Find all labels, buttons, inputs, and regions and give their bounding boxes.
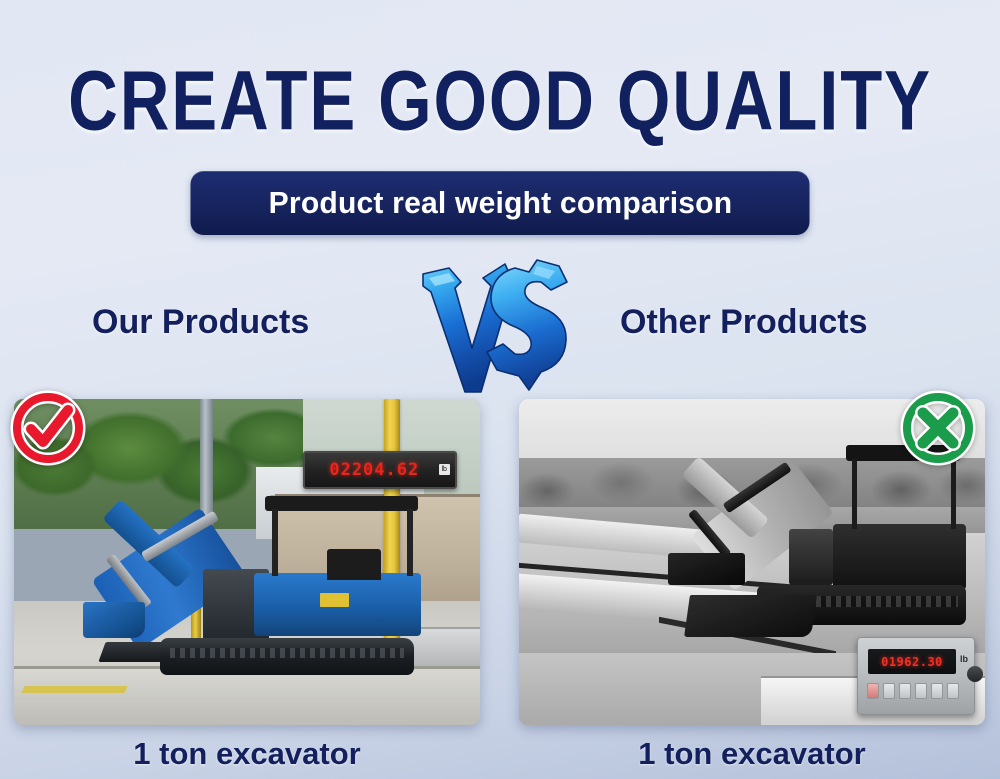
indicator-key-2[interactable]: [883, 683, 895, 699]
excavator-dozer-blade: [685, 595, 818, 637]
excavator-track: [160, 638, 414, 676]
canopy-post-rear: [407, 509, 413, 576]
excavator-canopy: [265, 496, 418, 512]
indicator-key-6[interactable]: [947, 683, 959, 699]
excavator-body: [833, 524, 966, 590]
excavator-decal: [320, 593, 349, 606]
indicator-key-4[interactable]: [915, 683, 927, 699]
check-circle-icon: [9, 389, 87, 467]
excavator-tank: [789, 529, 833, 585]
scale-indicator-device: 01962.30 lb: [857, 637, 975, 715]
indicator-mount-knob: [967, 666, 983, 682]
excavator-attachment-head: [668, 553, 744, 586]
indicator-key-5[interactable]: [931, 683, 943, 699]
blue-excavator: [65, 487, 428, 709]
indicator-key-1[interactable]: [867, 683, 879, 699]
right-column-heading: Other Products: [620, 303, 867, 342]
left-column-heading: Our Products: [92, 303, 309, 342]
canopy-post-rear: [951, 459, 956, 529]
led-weight-value: 02204.62: [310, 460, 439, 480]
right-photo-caption: 1 ton excavator: [519, 736, 985, 772]
indicator-keypad[interactable]: [867, 683, 959, 699]
subtitle-banner: Product real weight comparison: [191, 171, 810, 235]
indicator-key-3[interactable]: [899, 683, 911, 699]
page-title: CREATE GOOD QUALITY: [35, 52, 965, 149]
indicator-screen: 01962.30: [868, 649, 956, 674]
left-photo-caption: 1 ton excavator: [14, 736, 480, 772]
indicator-unit-label: lb: [960, 654, 968, 664]
excavator-bucket: [83, 602, 145, 637]
led-unit-indicator: lb: [439, 464, 450, 475]
indicator-weight-value: 01962.30: [881, 655, 943, 669]
canopy-post-front: [272, 509, 278, 576]
led-weight-display: 02204.62 lb: [303, 451, 457, 488]
vs-icon: [409, 252, 589, 400]
canopy-post-front: [852, 459, 857, 529]
operator-seat: [327, 549, 382, 580]
subtitle-banner-text: Product real weight comparison: [268, 185, 732, 221]
x-circle-icon: [899, 389, 977, 467]
